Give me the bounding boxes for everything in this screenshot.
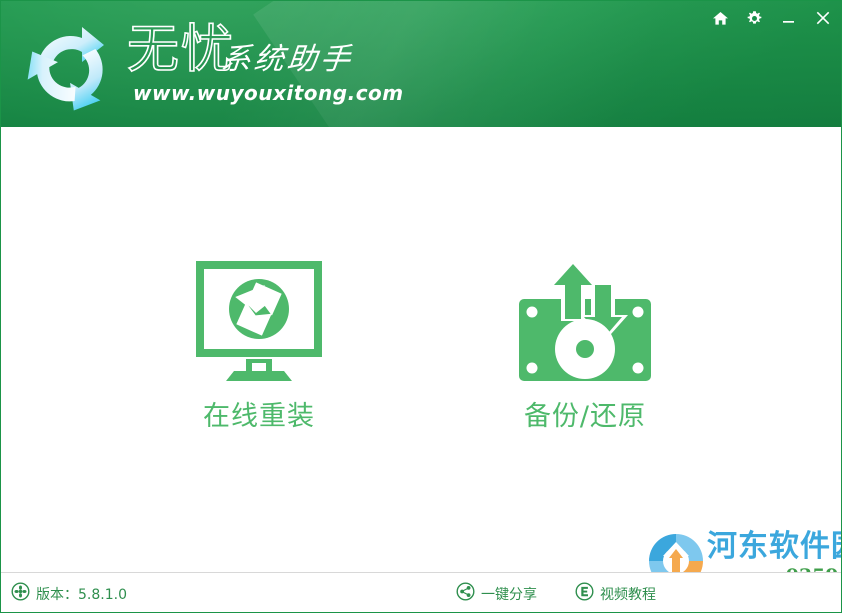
settings-button[interactable] bbox=[737, 3, 771, 33]
version-info: 版本：5.8.1.0 bbox=[11, 582, 127, 606]
brand-logo: 无忧 系统助手 www.wuyouxitong.com bbox=[9, 9, 429, 121]
recycle-arrows-icon bbox=[15, 17, 125, 121]
tile-online-reinstall[interactable]: 在线重装 bbox=[154, 257, 364, 433]
window-controls bbox=[703, 1, 839, 35]
minimize-icon bbox=[780, 10, 797, 27]
share-label: 一键分享 bbox=[481, 584, 537, 604]
video-tutorial-label: 视频教程 bbox=[600, 584, 656, 604]
footer-actions: 一键分享 视频教程 bbox=[456, 582, 656, 606]
tile-backup-restore[interactable]: 备份/还原 bbox=[480, 257, 690, 433]
video-tutorial-button[interactable]: 视频教程 bbox=[575, 582, 656, 606]
disk-backup-restore-icon bbox=[515, 257, 655, 383]
brand-name: 无忧 bbox=[127, 21, 235, 79]
footer-bar: 版本：5.8.1.0 一键分享 bbox=[1, 572, 841, 613]
share-icon bbox=[456, 582, 475, 606]
brand-text: 无忧 系统助手 www.wuyouxitong.com bbox=[125, 19, 425, 119]
feature-tiles: 在线重装 bbox=[1, 127, 842, 467]
brand-url: www.wuyouxitong.com bbox=[133, 81, 404, 105]
header-banner: 无忧 系统助手 www.wuyouxitong.com bbox=[1, 1, 842, 127]
tile-label-online-reinstall: 在线重装 bbox=[203, 401, 315, 433]
home-button[interactable] bbox=[703, 3, 737, 33]
main-content: 在线重装 bbox=[1, 127, 842, 572]
close-icon bbox=[814, 10, 831, 27]
flower-badge-icon bbox=[11, 582, 30, 606]
monitor-refresh-icon bbox=[194, 257, 324, 383]
minimize-button[interactable] bbox=[771, 3, 805, 33]
version-label: 版本：5.8.1.0 bbox=[36, 584, 127, 604]
app-window: 无忧 系统助手 www.wuyouxitong.com bbox=[0, 0, 842, 613]
e-badge-icon bbox=[575, 582, 594, 606]
brand-subtitle: 系统助手 bbox=[219, 43, 355, 77]
tile-label-backup-restore: 备份/还原 bbox=[524, 401, 646, 433]
home-icon bbox=[712, 10, 729, 27]
share-button[interactable]: 一键分享 bbox=[456, 582, 537, 606]
gear-icon bbox=[746, 10, 763, 27]
close-button[interactable] bbox=[805, 3, 839, 33]
